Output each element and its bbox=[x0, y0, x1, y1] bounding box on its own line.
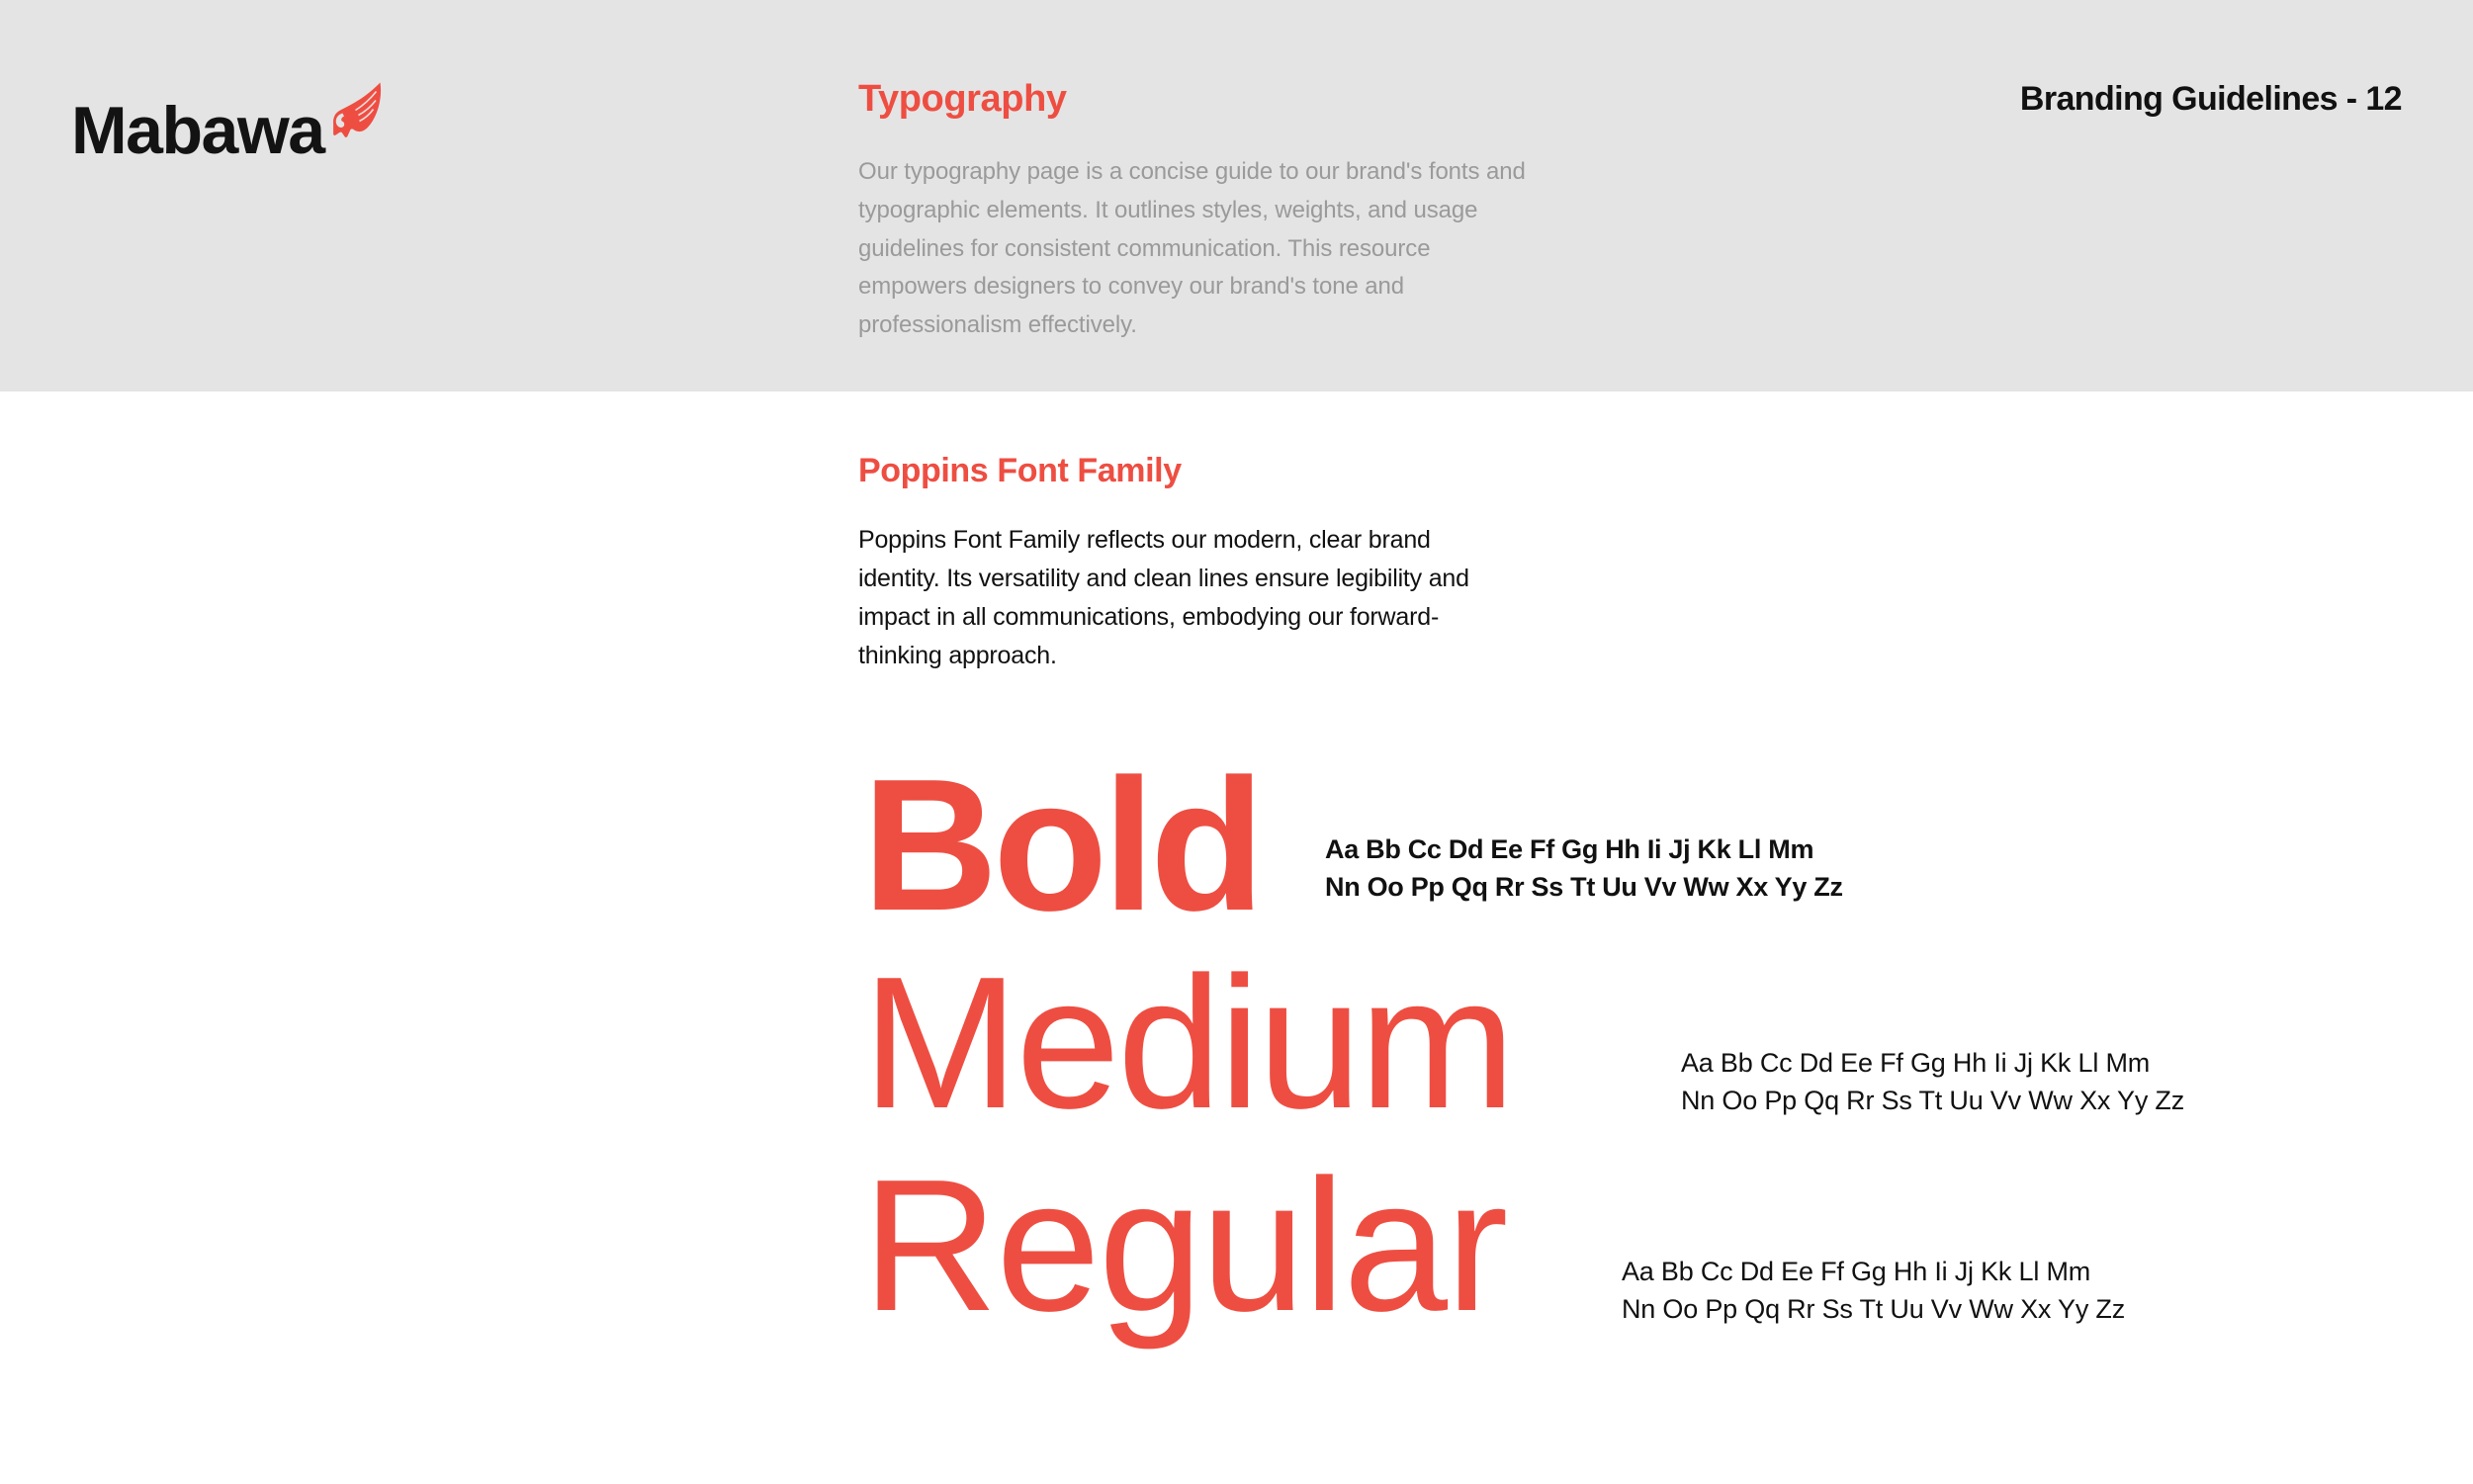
specimen-medium: Medium bbox=[862, 949, 1513, 1137]
font-family-section: Poppins Font Family Poppins Font Family … bbox=[858, 453, 1511, 674]
font-family-title: Poppins Font Family bbox=[858, 453, 1511, 489]
typography-page: Mabawa Typography Our typography page is… bbox=[0, 0, 2473, 1484]
alphabet-bold-line-1: Aa Bb Cc Dd Ee Ff Gg Hh Ii Jj Kk Ll Mm bbox=[1325, 830, 1843, 868]
page-description: Our typography page is a concise guide t… bbox=[858, 153, 1541, 345]
logo-wordmark: Mabawa bbox=[71, 97, 324, 164]
alphabet-medium-line-2: Nn Oo Pp Qq Rr Ss Tt Uu Vv Ww Xx Yy Zz bbox=[1681, 1082, 2184, 1119]
alphabet-regular: Aa Bb Cc Dd Ee Ff Gg Hh Ii Jj Kk Ll Mm N… bbox=[1622, 1253, 2125, 1329]
alphabet-regular-line-2: Nn Oo Pp Qq Rr Ss Tt Uu Vv Ww Xx Yy Zz bbox=[1622, 1290, 2125, 1328]
font-specimens: Bold Aa Bb Cc Dd Ee Ff Gg Hh Ii Jj Kk Ll… bbox=[0, 732, 2473, 1384]
alphabet-medium: Aa Bb Cc Dd Ee Ff Gg Hh Ii Jj Kk Ll Mm N… bbox=[1681, 1044, 2184, 1120]
alphabet-regular-line-1: Aa Bb Cc Dd Ee Ff Gg Hh Ii Jj Kk Ll Mm bbox=[1622, 1253, 2125, 1290]
alphabet-bold: Aa Bb Cc Dd Ee Ff Gg Hh Ii Jj Kk Ll Mm N… bbox=[1325, 830, 1843, 907]
alphabet-bold-line-2: Nn Oo Pp Qq Rr Ss Tt Uu Vv Ww Xx Yy Zz bbox=[1325, 868, 1843, 906]
brand-logo[interactable]: Mabawa bbox=[71, 77, 386, 164]
header-center-column: Typography Our typography page is a conc… bbox=[858, 79, 1541, 345]
specimen-word-regular: Regular bbox=[862, 1152, 1506, 1340]
page-title: Typography bbox=[858, 79, 1541, 121]
specimen-bold: Bold bbox=[862, 751, 1260, 939]
alphabet-medium-line-1: Aa Bb Cc Dd Ee Ff Gg Hh Ii Jj Kk Ll Mm bbox=[1681, 1044, 2184, 1082]
specimen-word-medium: Medium bbox=[862, 949, 1513, 1137]
font-family-description: Poppins Font Family reflects our modern,… bbox=[858, 521, 1511, 674]
wing-bird-icon bbox=[324, 77, 386, 148]
page-label: Branding Guidelines - 12 bbox=[2020, 81, 2402, 118]
specimen-word-bold: Bold bbox=[862, 751, 1260, 939]
specimen-regular: Regular bbox=[862, 1152, 1506, 1340]
